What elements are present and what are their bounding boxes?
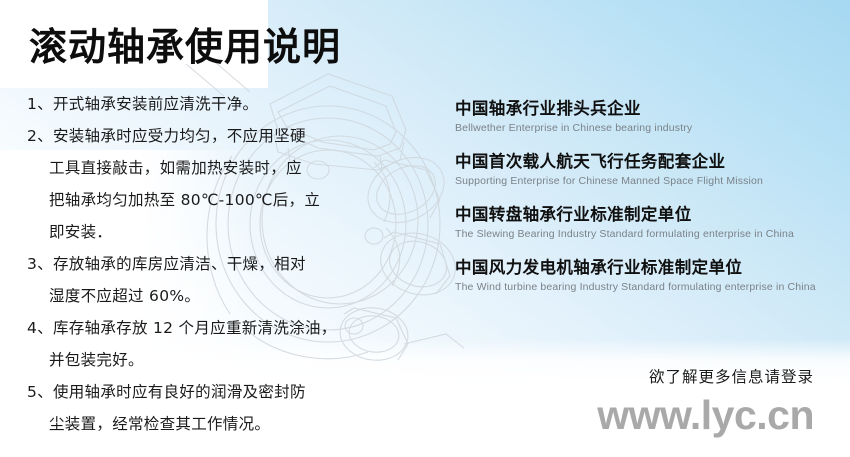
credential-title-cn: 中国轴承行业排头兵企业	[455, 98, 845, 120]
instruction-line: 3、存放轴承的库房应清洁、干燥，相对	[27, 248, 339, 280]
credential-title-cn: 中国风力发电机轴承行业标准制定单位	[455, 257, 845, 279]
credential-title-en: The Slewing Bearing Industry Standard fo…	[455, 226, 845, 242]
instruction-line: 1、开式轴承安装前应清洗干净。	[27, 88, 339, 120]
slide-canvas: 滚动轴承使用说明 1、开式轴承安装前应清洗干净。 2、安装轴承时应受力均匀，不应…	[0, 0, 850, 457]
credential-item: 中国轴承行业排头兵企业 Bellwether Enterprise in Chi…	[455, 98, 845, 136]
instruction-line: 2、安装轴承时应受力均匀，不应用坚硬	[27, 120, 339, 152]
list-item: 2、安装轴承时应受力均匀，不应用坚硬 工具直接敲击，如需加热安装时，应 把轴承均…	[27, 120, 339, 248]
instruction-line: 尘装置，经常检查其工作情况。	[27, 408, 339, 440]
list-item: 1、开式轴承安装前应清洗干净。	[27, 88, 339, 120]
list-item: 4、库存轴承存放 12 个月应重新清洗涂油， 并包装完好。	[27, 312, 339, 376]
credential-item: 中国转盘轴承行业标准制定单位 The Slewing Bearing Indus…	[455, 204, 845, 242]
instruction-line: 5、使用轴承时应有良好的润滑及密封防	[27, 376, 339, 408]
instruction-line: 并包装完好。	[27, 344, 339, 376]
instruction-line: 4、库存轴承存放 12 个月应重新清洗涂油，	[27, 312, 339, 344]
instruction-line: 湿度不应超过 60%。	[27, 280, 339, 312]
credential-title-cn: 中国转盘轴承行业标准制定单位	[455, 204, 845, 226]
instruction-line: 把轴承均匀加热至 80℃-100℃后，立	[27, 184, 339, 216]
credentials-list: 中国轴承行业排头兵企业 Bellwether Enterprise in Chi…	[455, 98, 845, 310]
page-title: 滚动轴承使用说明	[29, 24, 341, 70]
credential-title-en: Supporting Enterprise for Chinese Manned…	[455, 173, 845, 189]
credential-item: 中国首次载人航天飞行任务配套企业 Supporting Enterprise f…	[455, 151, 845, 189]
credential-title-en: The Wind turbine bearing Industry Standa…	[455, 279, 845, 295]
credential-item: 中国风力发电机轴承行业标准制定单位 The Wind turbine beari…	[455, 257, 845, 295]
website-url[interactable]: www.lyc.cn	[597, 390, 814, 440]
list-item: 3、存放轴承的库房应清洁、干燥，相对 湿度不应超过 60%。	[27, 248, 339, 312]
credential-title-cn: 中国首次载人航天飞行任务配套企业	[455, 151, 845, 173]
credential-title-en: Bellwether Enterprise in Chinese bearing…	[455, 120, 845, 136]
footer-cta-text: 欲了解更多信息请登录	[649, 366, 814, 388]
instruction-line: 工具直接敲击，如需加热安装时，应	[27, 152, 339, 184]
instruction-line: 即安装．	[27, 216, 339, 248]
instruction-list: 1、开式轴承安装前应清洗干净。 2、安装轴承时应受力均匀，不应用坚硬 工具直接敲…	[27, 88, 339, 440]
list-item: 5、使用轴承时应有良好的润滑及密封防 尘装置，经常检查其工作情况。	[27, 376, 339, 440]
